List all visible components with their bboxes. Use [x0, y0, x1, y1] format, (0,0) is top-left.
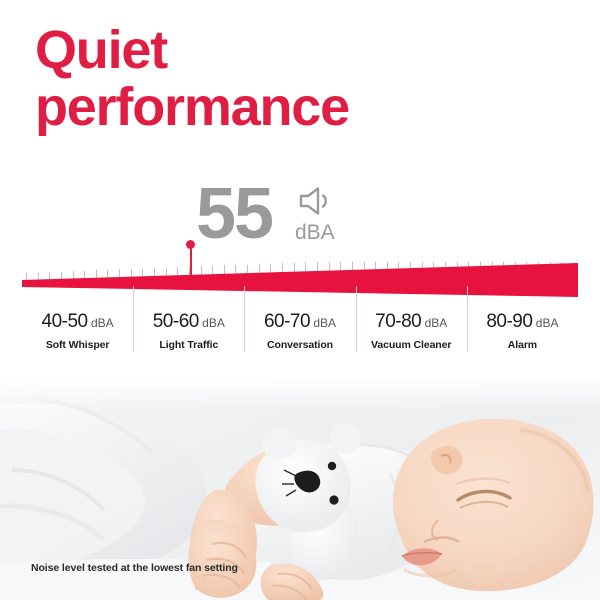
legend-range-unit: dBA [532, 316, 558, 330]
noise-scale [22, 262, 578, 298]
photo-caption: Noise level tested at the lowest fan set… [31, 562, 238, 574]
legend-range: 80-90 dBA [467, 311, 578, 333]
speaker-icon [298, 186, 332, 216]
legend-source-name: Light Traffic [133, 339, 244, 351]
noise-value: 55 [196, 178, 272, 250]
legend-source-name: Soft Whisper [22, 339, 133, 351]
legend-range-unit: dBA [421, 316, 447, 330]
legend-cell: 70-80 dBAVacuum Cleaner [356, 300, 467, 368]
legend-range-value: 40-50 [42, 311, 88, 332]
legend-cell: 40-50 dBASoft Whisper [22, 300, 133, 368]
legend-cell: 60-70 dBAConversation [244, 300, 355, 368]
legend-source-name: Alarm [467, 339, 578, 351]
legend-range: 70-80 dBA [356, 311, 467, 333]
page-title: Quiet performance [35, 22, 555, 136]
page-title-line-2: performance [35, 79, 555, 136]
noise-legend: 40-50 dBASoft Whisper50-60 dBALight Traf… [22, 300, 578, 368]
legend-range-unit: dBA [199, 316, 225, 330]
legend-range-value: 80-90 [486, 311, 532, 332]
legend-range-unit: dBA [88, 316, 114, 330]
legend-cell: 50-60 dBALight Traffic [133, 300, 244, 368]
legend-cell: 80-90 dBAAlarm [467, 300, 578, 368]
page-title-line-1: Quiet [35, 22, 555, 79]
legend-range-value: 60-70 [264, 311, 310, 332]
noise-unit: dBA [295, 222, 335, 243]
legend-range: 40-50 dBA [22, 311, 133, 333]
legend-range: 50-60 dBA [133, 311, 244, 333]
legend-source-name: Vacuum Cleaner [356, 339, 467, 351]
legend-range-value: 50-60 [153, 311, 199, 332]
legend-range-value: 70-80 [375, 311, 421, 332]
legend-source-name: Conversation [244, 339, 355, 351]
legend-range-unit: dBA [310, 316, 336, 330]
scale-wedge-bar [22, 262, 578, 298]
noise-reading: 55 dBA [196, 178, 396, 258]
legend-range: 60-70 dBA [244, 311, 355, 333]
